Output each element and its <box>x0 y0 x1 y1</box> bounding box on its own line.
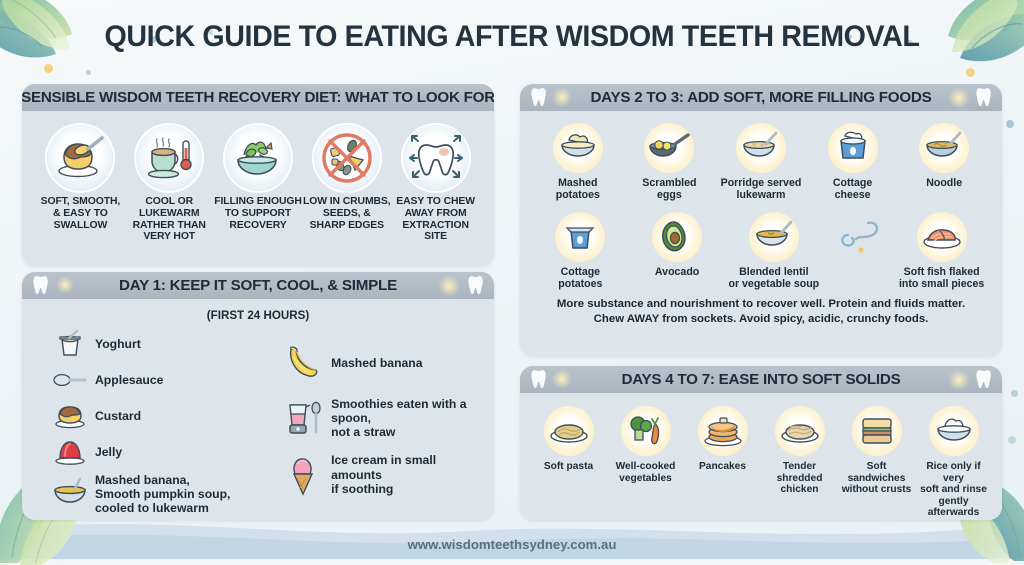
sandwich-icon <box>852 406 902 456</box>
list-item[interactable]: Applesauce <box>50 365 276 395</box>
food-caption: Soft sandwiches without crusts <box>838 461 915 496</box>
list-item-label: Custard <box>90 409 141 423</box>
food-tile[interactable]: Cottage cheese <box>807 123 899 202</box>
list-item[interactable]: Yoghurt <box>50 329 276 359</box>
card-body-day-1: (FIRST 24 HOURS) Yoghurt <box>22 299 494 520</box>
list-item[interactable]: Jelly <box>50 437 276 467</box>
food-tile[interactable]: Noodle <box>898 123 990 190</box>
decorative-dot <box>44 64 53 73</box>
card-body-days-4-to-7: Soft pasta Well-cooked vegetables <box>520 393 1002 520</box>
tooth-icon <box>530 87 547 108</box>
salmon-fillet-icon <box>917 212 967 262</box>
food-tile[interactable]: Soft sandwiches without crusts <box>838 406 915 496</box>
ice-cream-cone-icon <box>280 455 326 495</box>
food-caption: Noodle <box>898 178 990 190</box>
list-item[interactable]: Smoothies eaten with a spoon, not a stra… <box>280 397 484 439</box>
broccoli-carrot-icon <box>621 406 671 456</box>
lentil-soup-bowl-icon <box>749 212 799 262</box>
card-header-days-2-to-3: DAYS 2 TO 3: ADD SOFT, MORE FILLING FOOD… <box>520 84 1002 111</box>
blender-spoon-icon <box>280 398 326 438</box>
steam-swirl-icon <box>833 212 883 262</box>
custard-icon <box>50 401 90 431</box>
days-4-7-row: Soft pasta Well-cooked vegetables <box>530 401 992 519</box>
look-for-tile[interactable]: FILLING ENOUGH TO SUPPORT RECOVERY <box>214 125 303 231</box>
salad-bowl-icon <box>225 125 291 191</box>
tooth-icon <box>467 275 484 296</box>
list-item[interactable]: Mashed banana <box>280 343 484 383</box>
look-for-caption: EASY TO CHEW AWAY FROM EXTRACTION SITE <box>391 196 480 243</box>
food-caption: Soft pasta <box>530 461 607 473</box>
noodle-bowl-icon <box>919 123 969 173</box>
food-tile[interactable]: Tender shredded chicken <box>761 406 838 496</box>
food-caption: Rice only if very soft and rinse gently … <box>915 461 992 519</box>
no-crumbs-seeds-icon <box>314 125 380 191</box>
food-tile[interactable]: Blended lentil or vegetable soup <box>725 212 822 291</box>
food-caption: Porridge served lukewarm <box>715 178 807 202</box>
pasta-plate-icon <box>544 406 594 456</box>
food-tile[interactable]: Soft pasta <box>530 406 607 473</box>
card-days-2-to-3: DAYS 2 TO 3: ADD SOFT, MORE FILLING FOOD… <box>520 84 1002 356</box>
food-caption: Soft fish flaked into small pieces <box>893 267 990 291</box>
food-tile[interactable]: Soft fish flaked into small pieces <box>893 212 990 291</box>
decorative-dot <box>1006 120 1014 128</box>
mashed-potato-bowl-icon <box>553 123 603 173</box>
tooth-icon <box>975 87 992 108</box>
card-title-days-2-to-3: DAYS 2 TO 3: ADD SOFT, MORE FILLING FOOD… <box>590 89 931 106</box>
look-for-caption: FILLING ENOUGH TO SUPPORT RECOVERY <box>214 196 303 231</box>
cottage-cheese-tub-icon <box>828 123 878 173</box>
list-item-label: Smoothies eaten with a spoon, not a stra… <box>326 397 484 439</box>
days-2-3-row-1: Mashed potatoes Scrambled eggs <box>530 119 992 202</box>
list-item-label: Applesauce <box>90 373 163 387</box>
look-for-tile-row: SOFT, SMOOTH, & EASY TO SWALLOW C <box>32 119 484 243</box>
food-caption: Well-cooked vegetables <box>607 461 684 484</box>
food-tile[interactable]: Cottage potatoes <box>532 212 629 291</box>
food-caption: Pancakes <box>684 461 761 473</box>
footer-website-url[interactable]: www.wisdomteethsydney.com.au <box>0 537 1024 552</box>
custard-pudding-spoon-icon <box>47 125 113 191</box>
food-caption: Blended lentil or vegetable soup <box>725 267 822 291</box>
list-item-label: Ice cream in small amounts if soothing <box>326 453 484 495</box>
food-tile[interactable]: Rice only if very soft and rinse gently … <box>915 406 992 519</box>
list-item-label: Mashed banana <box>326 356 422 370</box>
food-tile[interactable]: Pancakes <box>684 406 761 473</box>
porridge-bowl-icon <box>736 123 786 173</box>
list-item-label: Mashed banana, Smooth pumpkin soup, cool… <box>90 473 230 515</box>
food-caption: Mashed potatoes <box>532 178 624 202</box>
card-header-days-4-to-7: DAYS 4 TO 7: EASE INTO SOFT SOLIDS <box>520 366 1002 393</box>
look-for-caption: COOL OR LUKEWARM RATHER THAN VERY HOT <box>125 196 214 243</box>
decorative-dot <box>966 68 975 77</box>
card-title-day-1: DAY 1: KEEP IT SOFT, COOL, & SIMPLE <box>119 277 397 294</box>
list-item[interactable]: Mashed banana, Smooth pumpkin soup, cool… <box>50 473 276 515</box>
steam-swirl-tile <box>822 212 893 267</box>
card-title-what-to-look-for: SENSIBLE WISDOM TEETH RECOVERY DIET: WHA… <box>22 89 494 106</box>
food-caption: Tender shredded chicken <box>761 461 838 496</box>
jelly-icon <box>50 437 90 467</box>
days-2-3-footnote: More substance and nourishment to recove… <box>530 297 992 327</box>
food-caption: Cottage potatoes <box>532 267 629 291</box>
look-for-caption: LOW IN CRUMBS, SEEDS, & SHARP EDGES <box>302 196 391 231</box>
day-1-lists: Yoghurt Applesauce <box>32 329 484 520</box>
page-title: QUICK GUIDE TO EATING AFTER WISDOM TEETH… <box>15 20 1008 54</box>
card-body-days-2-to-3: Mashed potatoes Scrambled eggs <box>520 111 1002 337</box>
day-1-right-column: Mashed banana Smoo <box>276 329 484 520</box>
rice-bowl-icon <box>929 406 979 456</box>
card-header-what-to-look-for: SENSIBLE WISDOM TEETH RECOVERY DIET: WHA… <box>22 84 494 111</box>
day-1-subheading: (FIRST 24 HOURS) <box>32 309 484 322</box>
tooth-icon <box>32 275 49 296</box>
food-tile[interactable]: Well-cooked vegetables <box>607 406 684 484</box>
yoghurt-pot-icon <box>50 329 90 359</box>
tooth-icon <box>975 369 992 390</box>
tooth-icon <box>530 369 547 390</box>
decorative-dot <box>86 70 91 75</box>
food-caption: Cottage cheese <box>807 178 899 202</box>
list-item-label: Jelly <box>90 445 122 459</box>
spoon-icon <box>50 365 90 395</box>
shredded-chicken-plate-icon <box>775 406 825 456</box>
food-tile[interactable]: Mashed potatoes <box>532 123 624 202</box>
food-caption: Scrambled eggs <box>624 178 716 202</box>
list-item[interactable]: Ice cream in small amounts if soothing <box>280 453 484 495</box>
pancakes-icon <box>698 406 748 456</box>
tooth-arrows-icon <box>403 125 469 191</box>
cottage-potato-tub-icon <box>555 212 605 262</box>
decorative-dot <box>1011 390 1018 397</box>
look-for-caption: SOFT, SMOOTH, & EASY TO SWALLOW <box>36 196 125 231</box>
food-caption: Avocado <box>629 267 726 279</box>
card-days-4-to-7: DAYS 4 TO 7: EASE INTO SOFT SOLIDS Soft … <box>520 366 1002 520</box>
food-tile[interactable]: Avocado <box>629 212 726 279</box>
list-item[interactable]: Custard <box>50 401 276 431</box>
card-title-days-4-to-7: DAYS 4 TO 7: EASE INTO SOFT SOLIDS <box>621 371 900 388</box>
days-2-3-row-2: Cottage potatoes Avocado <box>530 208 992 291</box>
card-what-to-look-for: SENSIBLE WISDOM TEETH RECOVERY DIET: WHA… <box>22 84 494 266</box>
day-1-left-column: Yoghurt Applesauce <box>32 329 276 520</box>
look-for-tile[interactable]: EASY TO CHEW AWAY FROM EXTRACTION SITE <box>391 125 480 243</box>
food-tile[interactable]: Scrambled eggs <box>624 123 716 202</box>
look-for-tile[interactable]: COOL OR LUKEWARM RATHER THAN VERY HOT <box>125 125 214 243</box>
teacup-thermometer-icon <box>136 125 202 191</box>
avocado-icon <box>652 212 702 262</box>
banana-icon <box>280 343 326 383</box>
card-body-what-to-look-for: SOFT, SMOOTH, & EASY TO SWALLOW C <box>22 111 494 253</box>
look-for-tile[interactable]: LOW IN CRUMBS, SEEDS, & SHARP EDGES <box>302 125 391 231</box>
food-tile[interactable]: Porridge served lukewarm <box>715 123 807 202</box>
soup-bowl-icon <box>50 473 90 513</box>
list-item-label: Yoghurt <box>90 337 141 351</box>
card-header-day-1: DAY 1: KEEP IT SOFT, COOL, & SIMPLE <box>22 272 494 299</box>
decorative-dot <box>1008 436 1016 444</box>
card-day-1: DAY 1: KEEP IT SOFT, COOL, & SIMPLE (FIR… <box>22 272 494 520</box>
scrambled-eggs-pan-icon <box>644 123 694 173</box>
look-for-tile[interactable]: SOFT, SMOOTH, & EASY TO SWALLOW <box>36 125 125 231</box>
